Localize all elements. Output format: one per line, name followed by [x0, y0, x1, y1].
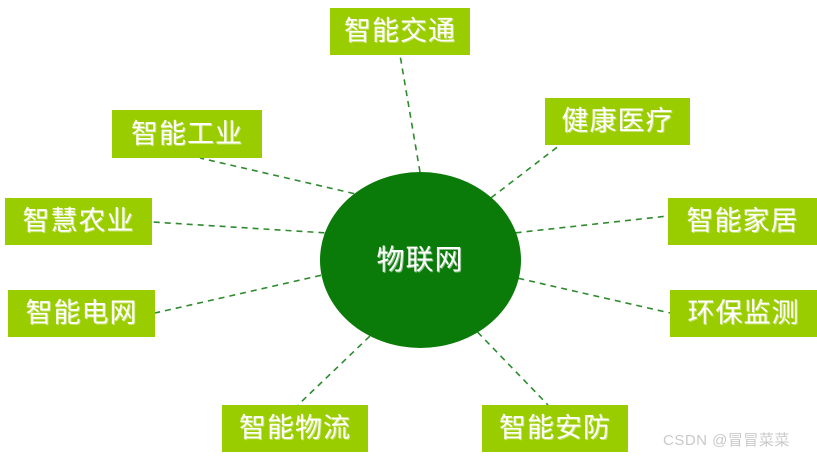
- connector-line-2: [516, 216, 668, 233]
- connector-line-8: [200, 158, 354, 194]
- node-label: 智能电网: [26, 300, 138, 327]
- connector-line-0: [400, 55, 420, 172]
- diagram-canvas: 物联网 智能交通健康医疗智能家居环保监测智能安防智能物流智能电网智慧农业智能工业…: [0, 0, 817, 457]
- node-label: 智慧农业: [23, 208, 135, 235]
- node-label: 智能家居: [687, 208, 799, 235]
- node-box-1[interactable]: 健康医疗: [545, 98, 690, 145]
- node-label: 智能安防: [499, 415, 611, 442]
- node-box-5[interactable]: 智能物流: [222, 405, 368, 452]
- node-box-3[interactable]: 环保监测: [670, 290, 817, 337]
- node-label: 智能物流: [239, 415, 351, 442]
- connector-line-3: [518, 278, 670, 313]
- hub-node-label: 物联网: [376, 246, 463, 274]
- connector-line-6: [155, 275, 321, 313]
- watermark-csdn: CSDN @冒冒菜菜: [663, 433, 790, 448]
- hub-node-internet-of-things[interactable]: 物联网: [320, 172, 521, 348]
- node-box-2[interactable]: 智能家居: [668, 198, 817, 245]
- node-box-8[interactable]: 智能工业: [112, 110, 262, 158]
- connector-line-7: [152, 222, 324, 233]
- node-label: 智能工业: [131, 121, 243, 148]
- node-box-7[interactable]: 智慧农业: [5, 198, 152, 245]
- node-box-0[interactable]: 智能交通: [330, 8, 470, 55]
- node-label: 环保监测: [688, 300, 800, 327]
- connector-line-4: [478, 332, 548, 405]
- node-box-6[interactable]: 智能电网: [8, 290, 155, 337]
- node-box-4[interactable]: 智能安防: [482, 405, 628, 452]
- node-label: 健康医疗: [562, 108, 674, 135]
- connector-line-1: [491, 145, 560, 198]
- node-label: 智能交通: [344, 18, 456, 45]
- connector-line-5: [298, 336, 370, 405]
